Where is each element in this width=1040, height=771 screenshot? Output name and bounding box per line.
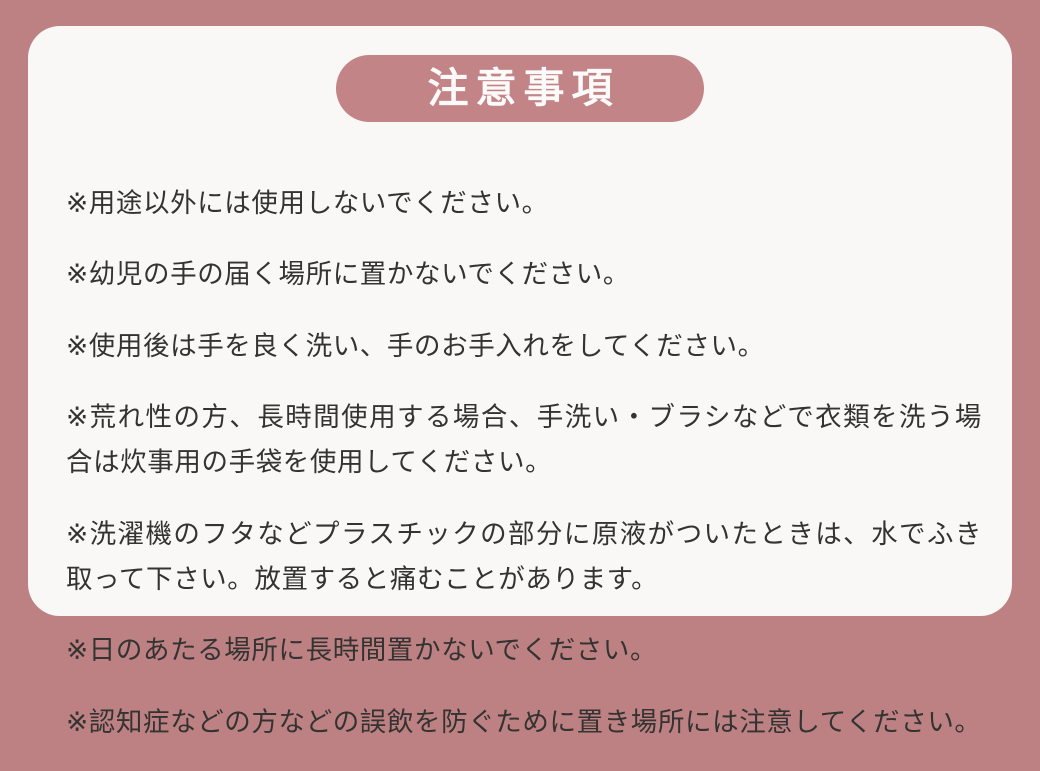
precautions-list: ※用途以外には使用しないでください。 ※幼児の手の届く場所に置かないでください。… bbox=[66, 154, 982, 771]
list-item: ※洗濯機のフタなどプラスチックの部分に原液がついたときは、水でふき取って下さい。… bbox=[66, 512, 982, 602]
list-item: ※荒れ性の方、長時間使用する場合、手洗い・ブラシなどで衣類を洗う場合は炊事用の手… bbox=[66, 395, 982, 485]
title-badge: 注意事項 bbox=[336, 55, 704, 122]
list-item: ※幼児の手の届く場所に置かないでください。 bbox=[66, 252, 982, 297]
title-container: 注意事項 bbox=[28, 55, 1012, 122]
list-item: ※日のあたる場所に長時間置かないでください。 bbox=[66, 628, 982, 673]
poster-background: 注意事項 ※用途以外には使用しないでください。 ※幼児の手の届く場所に置かないで… bbox=[0, 0, 1040, 646]
list-item: ※使用後は手を良く洗い、手のお手入れをしてください。 bbox=[66, 324, 982, 369]
page-title: 注意事項 bbox=[421, 68, 620, 109]
list-item: ※用途以外には使用しないでください。 bbox=[66, 181, 982, 226]
list-item: ※認知症などの方などの誤飲を防ぐために置き場所には注意してください。 bbox=[66, 700, 982, 745]
precautions-card: 注意事項 ※用途以外には使用しないでください。 ※幼児の手の届く場所に置かないで… bbox=[28, 26, 1012, 616]
